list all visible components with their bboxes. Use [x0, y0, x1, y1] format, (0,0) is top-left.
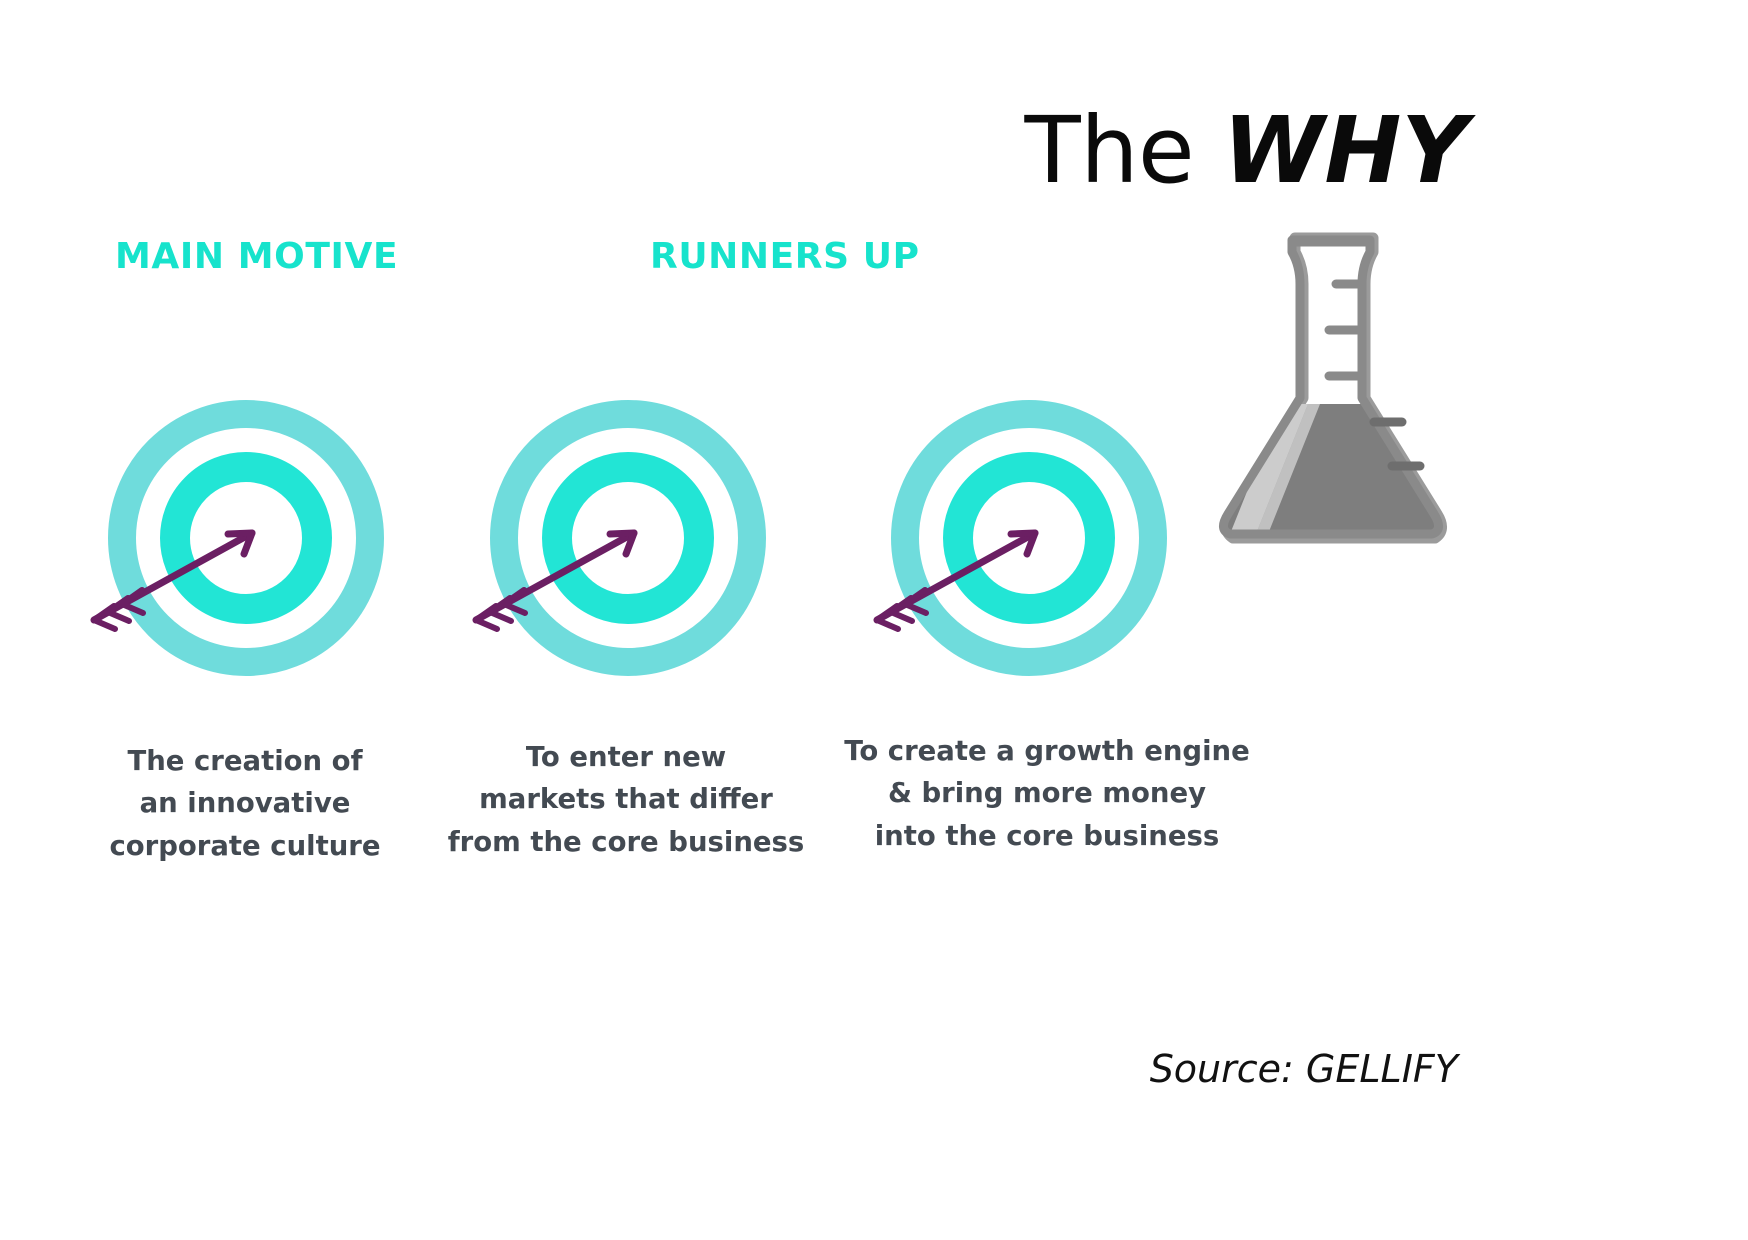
caption-line: To create a growth engine — [837, 730, 1257, 772]
caption-line: To enter new — [446, 736, 806, 778]
bullseye-target-icon-2 — [462, 400, 792, 700]
column-header-runners-up: RUNNERS UP — [650, 236, 920, 277]
bullseye-target-icon-3 — [863, 400, 1193, 700]
caption-3: To create a growth engine & bring more m… — [837, 730, 1257, 857]
page-title: The WHY — [1025, 104, 1468, 198]
title-emphasis: WHY — [1223, 97, 1468, 204]
flask-graduation-marks — [1329, 284, 1362, 376]
caption-1: The creation of an innovative corporate … — [80, 740, 410, 867]
source-attribution: Source: GELLIFY — [1150, 1047, 1458, 1091]
infographic-canvas: The WHY MAIN MOTIVE RUNNERS UP The creat… — [0, 0, 1748, 1240]
bullseye-target-icon-1 — [80, 400, 410, 700]
caption-line: markets that differ — [446, 778, 806, 820]
column-header-main-motive: MAIN MOTIVE — [115, 236, 398, 277]
caption-line: The creation of — [80, 740, 410, 782]
erlenmeyer-flask-icon — [1196, 222, 1466, 552]
caption-line: & bring more money — [837, 772, 1257, 814]
target-column-1: The creation of an innovative corporate … — [80, 400, 410, 700]
caption-line: corporate culture — [80, 825, 410, 867]
title-prefix: The — [1025, 97, 1223, 204]
flask-liquid — [1196, 404, 1466, 544]
caption-2: To enter new markets that differ from th… — [446, 736, 806, 863]
caption-line: into the core business — [837, 815, 1257, 857]
target-column-2: To enter new markets that differ from th… — [462, 400, 792, 700]
caption-line: an innovative — [80, 782, 410, 824]
caption-line: from the core business — [446, 821, 806, 863]
target-column-3: To create a growth engine & bring more m… — [863, 400, 1193, 700]
